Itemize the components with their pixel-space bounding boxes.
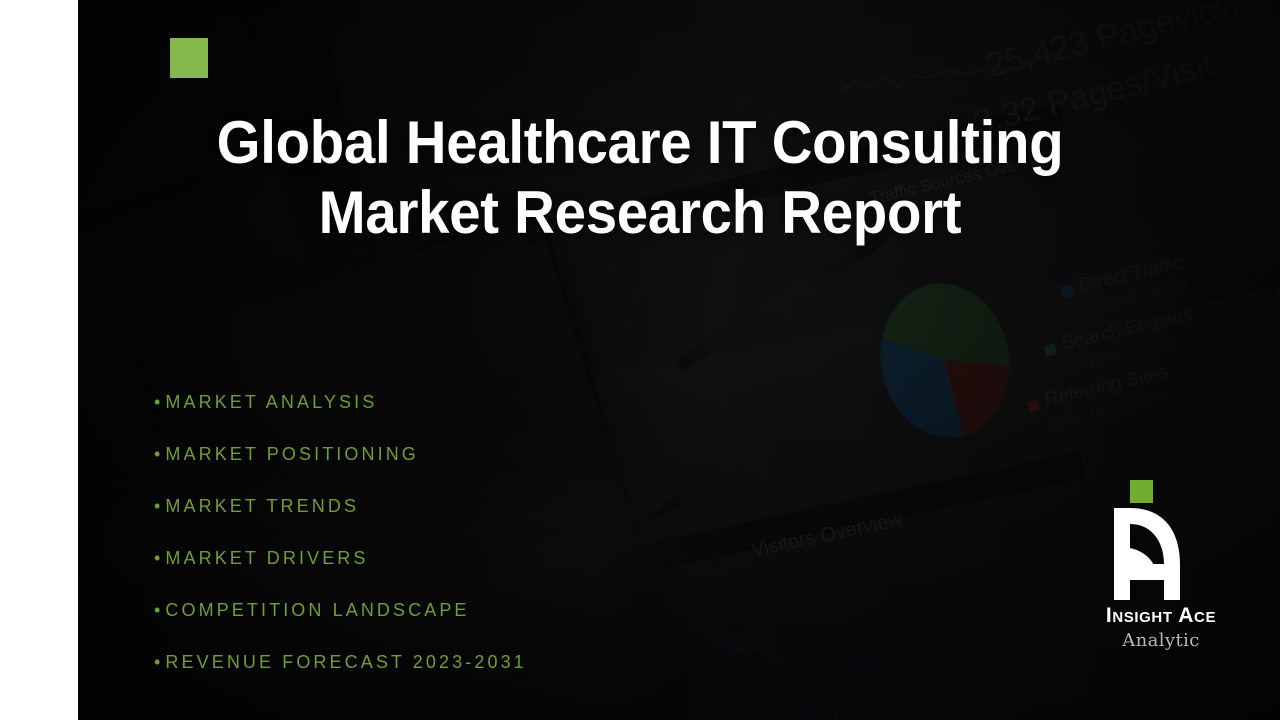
page-title: Global Healthcare IT Consulting Market R… <box>132 108 1147 248</box>
presentation-slide: 25,423 Pageviews 3.32 Pages/Visit Traffi… <box>0 0 1280 720</box>
list-item-label: MARKET ANALYSIS <box>165 392 377 413</box>
logo-a-mark-icon <box>1114 508 1196 600</box>
logo-accent-square <box>1130 480 1153 503</box>
accent-square <box>170 38 208 78</box>
list-item: • REVENUE FORECAST 2023-2031 <box>154 652 527 704</box>
list-item: • COMPETITION LANDSCAPE <box>154 600 527 652</box>
bullet-dot-icon: • <box>154 653 163 671</box>
list-item-label: REVENUE FORECAST 2023-2031 <box>165 652 526 673</box>
list-item-label: MARKET POSITIONING <box>165 444 419 465</box>
bullet-dot-icon: • <box>154 549 163 567</box>
page-title-line-1: Global Healthcare IT Consulting <box>132 108 1147 178</box>
bullet-dot-icon: • <box>154 497 163 515</box>
logo-name-text: Insight Ace <box>1086 604 1236 628</box>
list-item: • MARKET POSITIONING <box>154 444 527 496</box>
list-item: • MARKET TRENDS <box>154 496 527 548</box>
bullet-dot-icon: • <box>154 445 163 463</box>
list-item-label: MARKET DRIVERS <box>165 548 368 569</box>
bullet-dot-icon: • <box>154 393 163 411</box>
logo-subtitle-text: Analytic <box>1086 630 1236 652</box>
list-item: • MARKET DRIVERS <box>154 548 527 600</box>
page-title-line-2: Market Research Report <box>132 178 1147 248</box>
list-item-label: COMPETITION LANDSCAPE <box>165 600 469 621</box>
left-sidebar <box>0 0 78 720</box>
list-item: • MARKET ANALYSIS <box>154 392 527 444</box>
list-item-label: MARKET TRENDS <box>165 496 359 517</box>
brand-logo: Insight Ace Analytic <box>1086 478 1236 656</box>
bullet-dot-icon: • <box>154 601 163 619</box>
topic-list: • MARKET ANALYSIS • MARKET POSITIONING •… <box>154 392 527 704</box>
